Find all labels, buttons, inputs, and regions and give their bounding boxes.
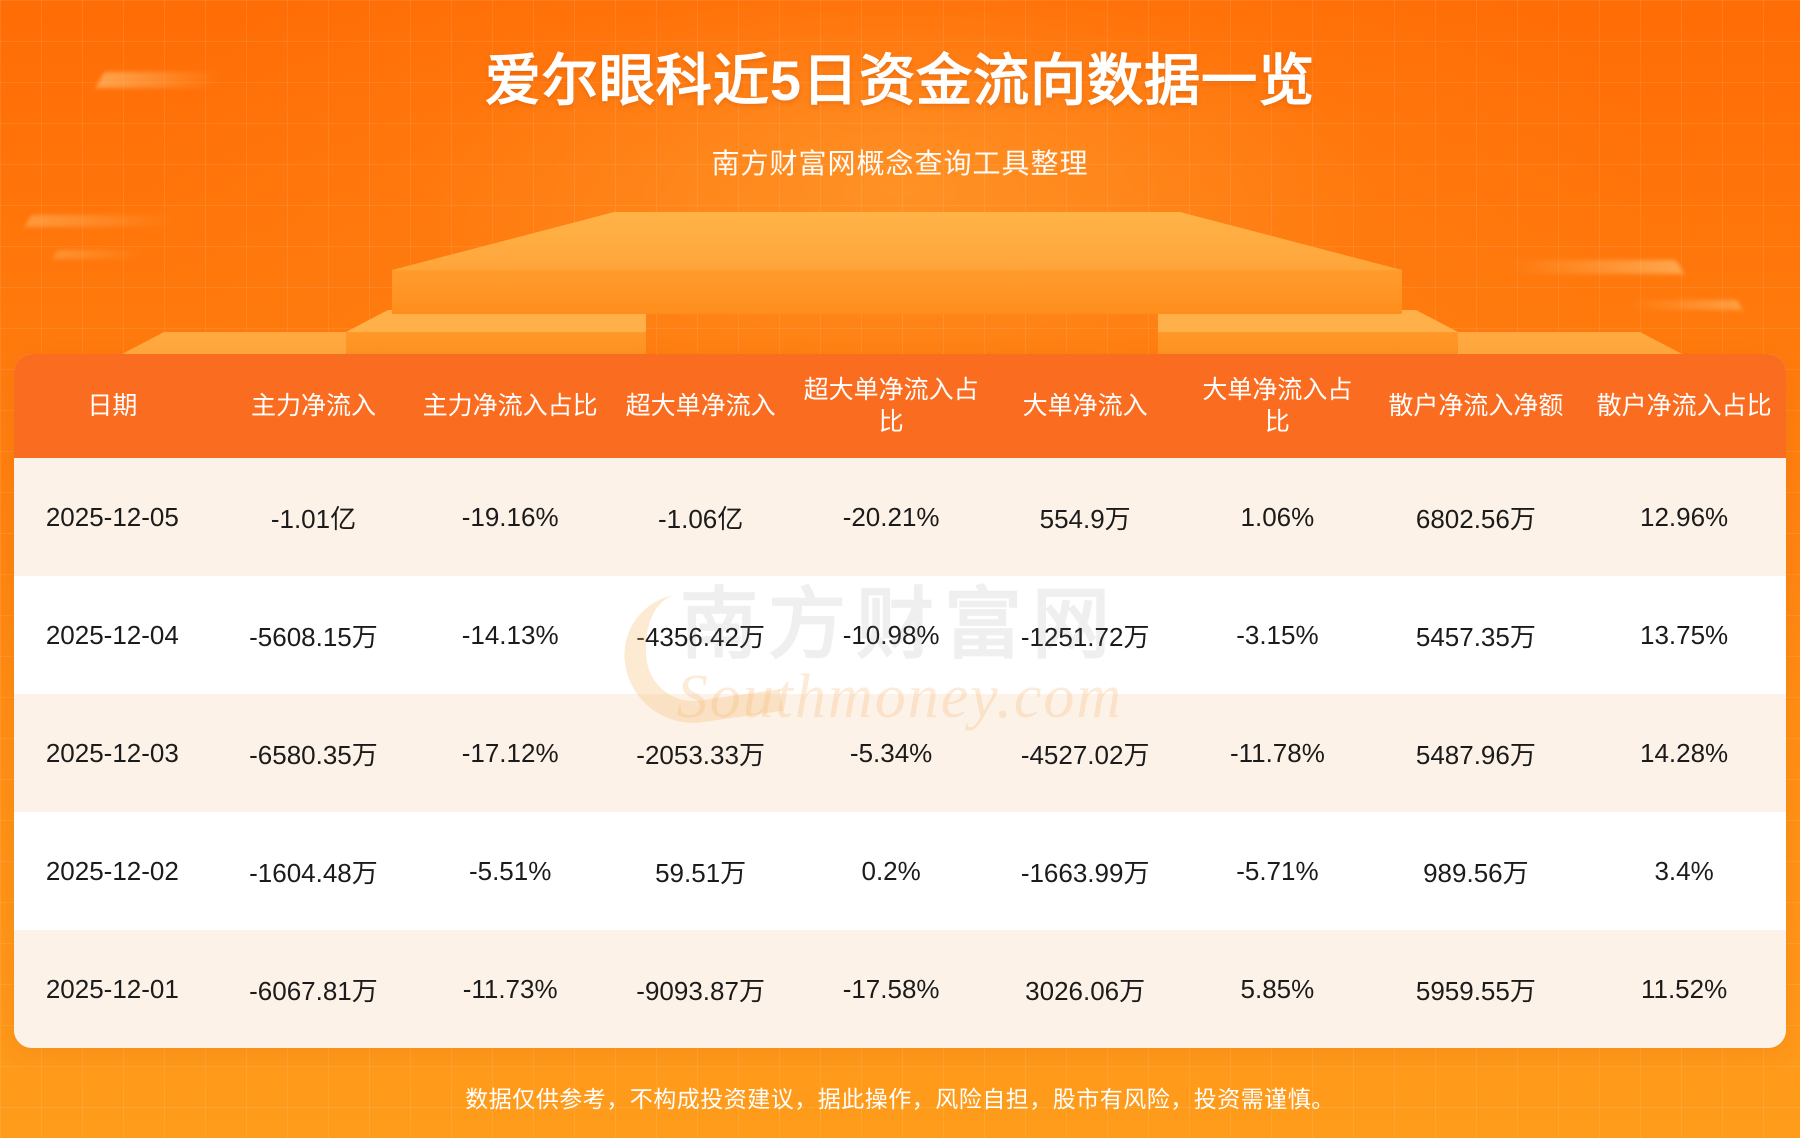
cell-date: 2025-12-05 xyxy=(14,458,211,576)
light-streak-icon xyxy=(53,250,148,259)
page-title: 爱尔眼科近5日资金流向数据一览 xyxy=(0,46,1800,116)
cell-main-net: -1.01亿 xyxy=(211,458,417,576)
table-row: 2025-12-02 -1604.48万 -5.51% 59.51万 0.2% … xyxy=(14,812,1786,930)
column-header-date: 日期 xyxy=(14,354,211,458)
cell-main-net: -6067.81万 xyxy=(211,930,417,1048)
cell-retail-net: 5487.96万 xyxy=(1370,694,1583,812)
cell-date: 2025-12-04 xyxy=(14,576,211,694)
table-header: 日期 主力净流入 主力净流入占比 超大单净流入 超大单净流入占比 大单净流入 大… xyxy=(14,354,1786,458)
cell-retail-pct: 12.96% xyxy=(1582,458,1786,576)
cell-lg-net: 3026.06万 xyxy=(985,930,1185,1048)
cell-lg-pct: -5.71% xyxy=(1185,812,1369,930)
cell-xl-pct: -10.98% xyxy=(797,576,985,694)
cell-lg-pct: -3.15% xyxy=(1185,576,1369,694)
cell-date: 2025-12-02 xyxy=(14,812,211,930)
cell-xl-pct: -17.58% xyxy=(797,930,985,1048)
table-row: 2025-12-01 -6067.81万 -11.73% -9093.87万 -… xyxy=(14,930,1786,1048)
cell-xl-net: -1.06亿 xyxy=(604,458,797,576)
cell-retail-net: 989.56万 xyxy=(1370,812,1583,930)
cell-retail-pct: 11.52% xyxy=(1582,930,1786,1048)
cell-lg-net: 554.9万 xyxy=(985,458,1185,576)
cell-main-pct: -5.51% xyxy=(416,812,604,930)
cell-lg-pct: 1.06% xyxy=(1185,458,1369,576)
column-header-lg-net: 大单净流入 xyxy=(985,354,1185,458)
table-header-row: 日期 主力净流入 主力净流入占比 超大单净流入 超大单净流入占比 大单净流入 大… xyxy=(14,354,1786,458)
footer-disclaimer: 数据仅供参考，不构成投资建议，据此操作，风险自担，股市有风险，投资需谨慎。 xyxy=(0,1080,1800,1114)
podium-block-left-mid xyxy=(346,310,646,332)
light-streak-icon xyxy=(1627,300,1742,310)
data-table-card: 日期 主力净流入 主力净流入占比 超大单净流入 超大单净流入占比 大单净流入 大… xyxy=(14,354,1786,1048)
cell-lg-pct: -11.78% xyxy=(1185,694,1369,812)
cell-xl-net: -2053.33万 xyxy=(604,694,797,812)
column-header-retail-net: 散户净流入净额 xyxy=(1370,354,1583,458)
cell-retail-pct: 13.75% xyxy=(1582,576,1786,694)
cell-retail-pct: 14.28% xyxy=(1582,694,1786,812)
cell-xl-pct: 0.2% xyxy=(797,812,985,930)
table-body: 2025-12-05 -1.01亿 -19.16% -1.06亿 -20.21%… xyxy=(14,458,1786,1048)
podium-block-top-face xyxy=(392,270,1402,314)
light-streak-icon xyxy=(25,215,181,227)
cell-retail-net: 5959.55万 xyxy=(1370,930,1583,1048)
page-subtitle: 南方财富网概念查询工具整理 xyxy=(0,142,1800,182)
podium-block-right-back xyxy=(1262,332,1682,354)
cell-main-pct: -17.12% xyxy=(416,694,604,812)
table-row: 2025-12-03 -6580.35万 -17.12% -2053.33万 -… xyxy=(14,694,1786,812)
podium-block-top xyxy=(392,212,1402,270)
cell-xl-net: 59.51万 xyxy=(604,812,797,930)
cell-date: 2025-12-01 xyxy=(14,930,211,1048)
cell-lg-net: -1251.72万 xyxy=(985,576,1185,694)
cell-retail-net: 5457.35万 xyxy=(1370,576,1583,694)
cell-main-pct: -19.16% xyxy=(416,458,604,576)
light-streak-icon xyxy=(1506,260,1683,274)
poster-root: 爱尔眼科近5日资金流向数据一览 南方财富网概念查询工具整理 日期 主力净流入 主… xyxy=(0,0,1800,1138)
cell-retail-net: 6802.56万 xyxy=(1370,458,1583,576)
podium-block-left-back xyxy=(122,332,542,354)
column-header-xl-net: 超大单净流入 xyxy=(604,354,797,458)
column-header-retail-pct: 散户净流入占比 xyxy=(1582,354,1786,458)
cell-main-net: -5608.15万 xyxy=(211,576,417,694)
column-header-xl-pct: 超大单净流入占比 xyxy=(797,354,985,458)
cell-main-pct: -11.73% xyxy=(416,930,604,1048)
cell-xl-net: -9093.87万 xyxy=(604,930,797,1048)
column-header-lg-pct: 大单净流入占比 xyxy=(1185,354,1369,458)
column-header-main-pct: 主力净流入占比 xyxy=(416,354,604,458)
cell-xl-net: -4356.42万 xyxy=(604,576,797,694)
cell-lg-net: -4527.02万 xyxy=(985,694,1185,812)
cell-lg-net: -1663.99万 xyxy=(985,812,1185,930)
cell-lg-pct: 5.85% xyxy=(1185,930,1369,1048)
cell-xl-pct: -20.21% xyxy=(797,458,985,576)
cell-main-pct: -14.13% xyxy=(416,576,604,694)
table-row: 2025-12-04 -5608.15万 -14.13% -4356.42万 -… xyxy=(14,576,1786,694)
cell-main-net: -1604.48万 xyxy=(211,812,417,930)
cell-retail-pct: 3.4% xyxy=(1582,812,1786,930)
poster-header: 爱尔眼科近5日资金流向数据一览 南方财富网概念查询工具整理 xyxy=(0,0,1800,182)
column-header-main-net: 主力净流入 xyxy=(211,354,417,458)
cell-xl-pct: -5.34% xyxy=(797,694,985,812)
table-row: 2025-12-05 -1.01亿 -19.16% -1.06亿 -20.21%… xyxy=(14,458,1786,576)
podium-block-right-mid xyxy=(1158,310,1458,332)
fund-flow-table: 日期 主力净流入 主力净流入占比 超大单净流入 超大单净流入占比 大单净流入 大… xyxy=(14,354,1786,1048)
cell-main-net: -6580.35万 xyxy=(211,694,417,812)
cell-date: 2025-12-03 xyxy=(14,694,211,812)
